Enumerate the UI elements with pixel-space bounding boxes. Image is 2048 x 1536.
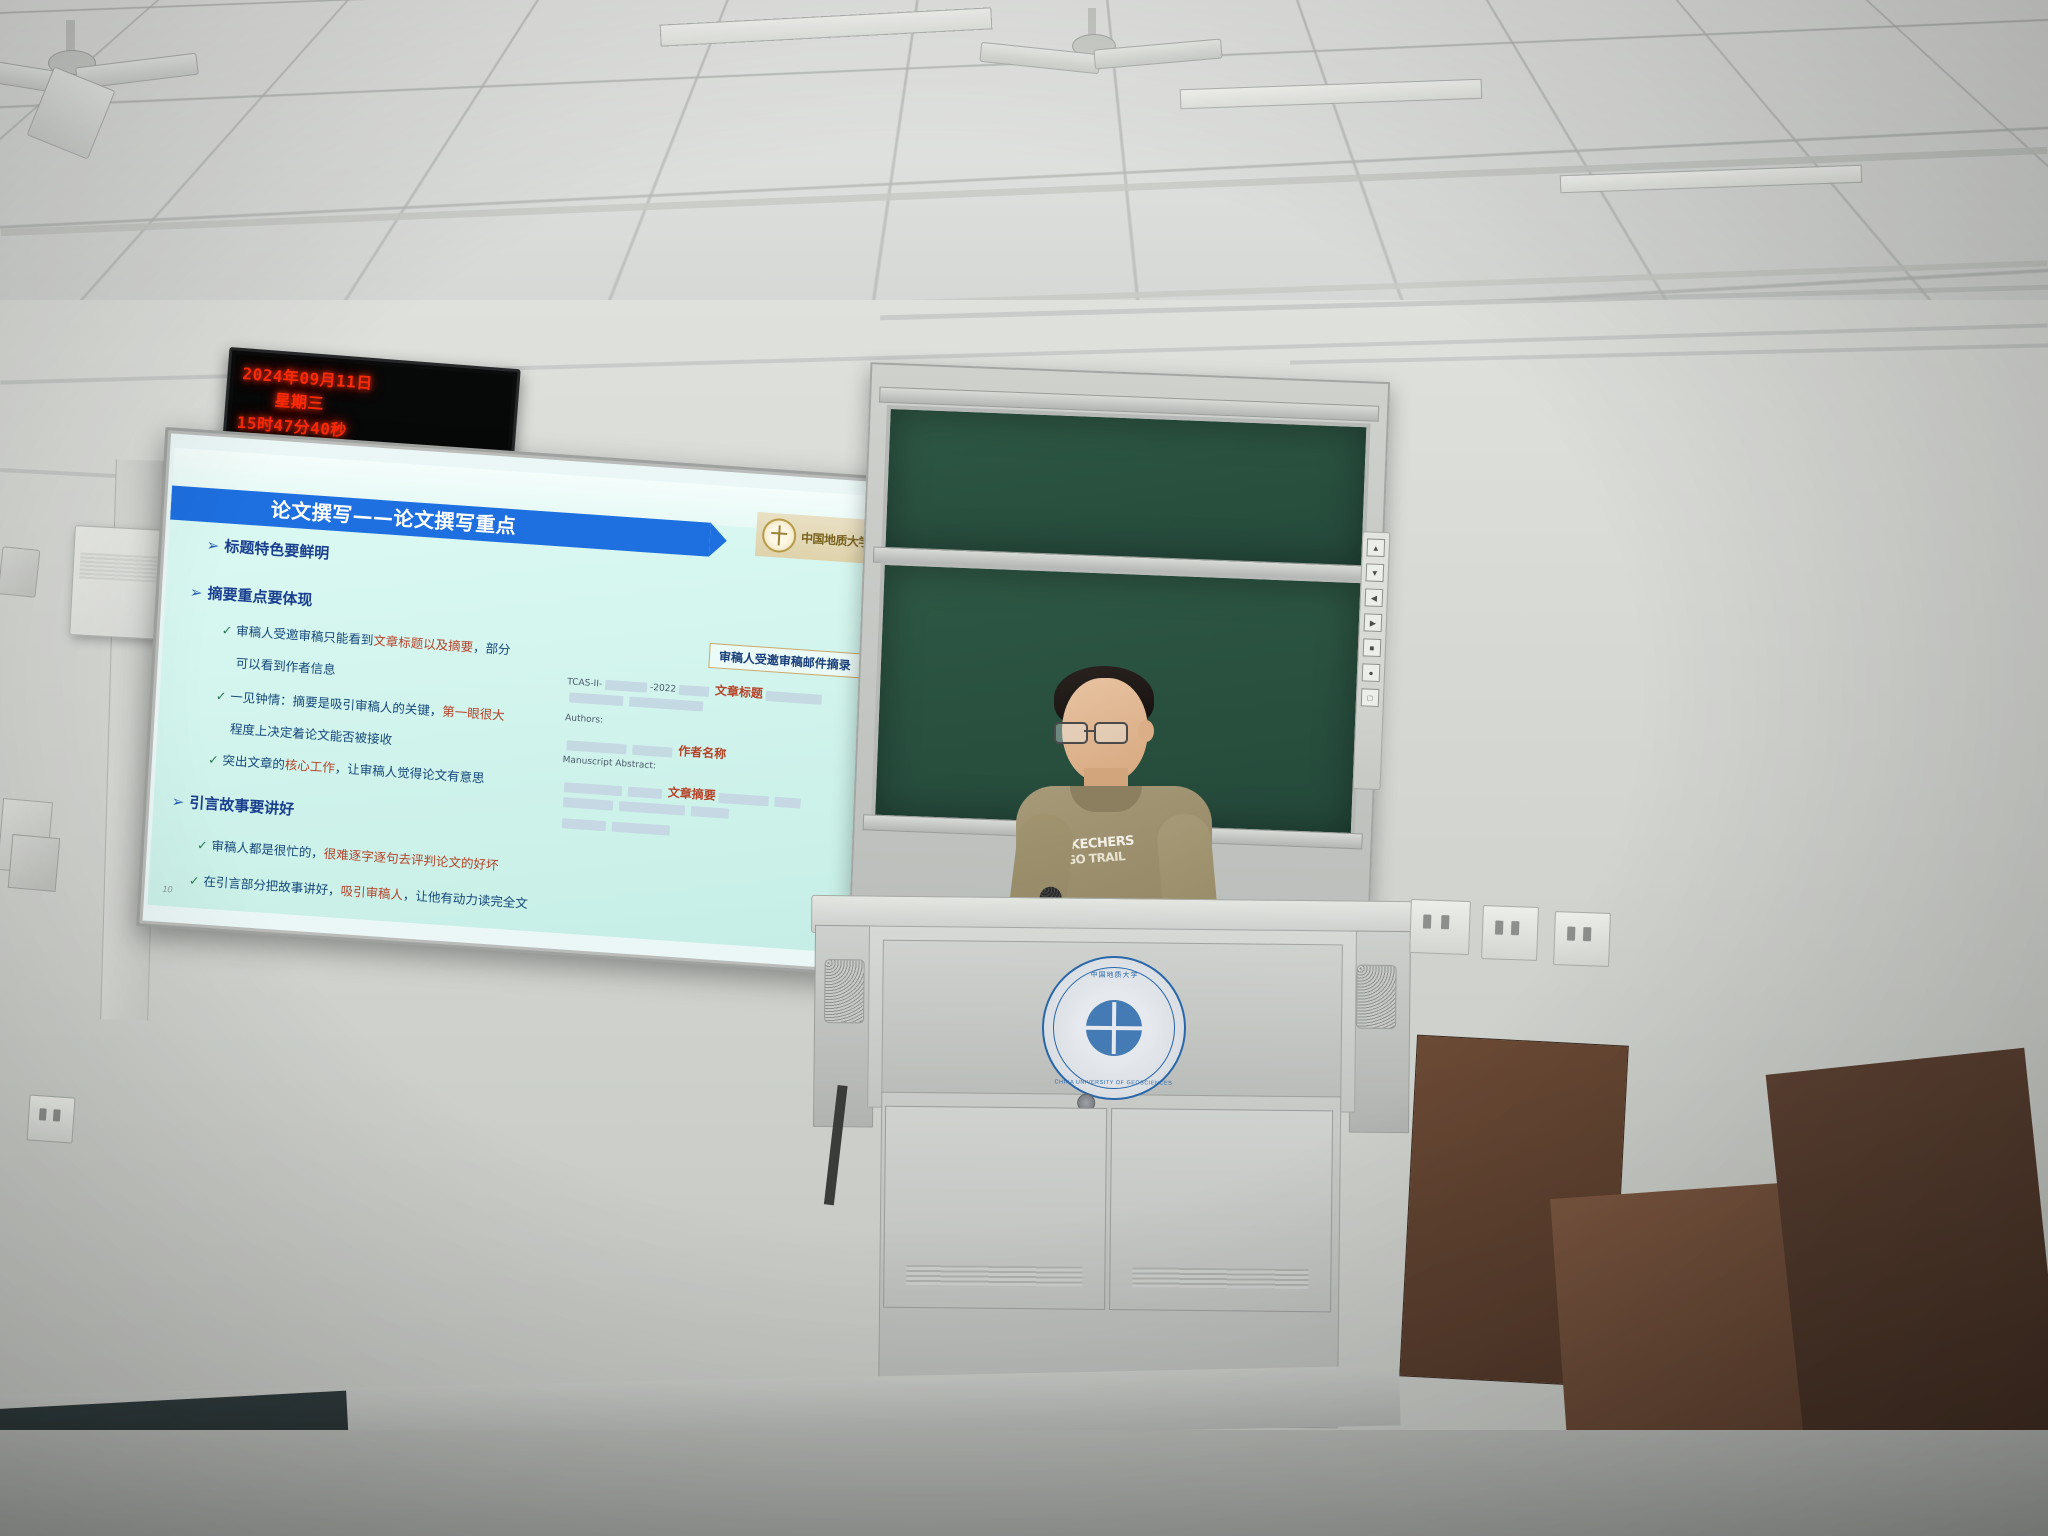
university-emblem: 中国地质大学 CHINA UNIVERSITY OF GEOSCIENCES: [1041, 955, 1187, 1101]
email-excerpt-body: TCAS-II--2022 文章标题 Authors: 作者名称 Manus: [558, 671, 867, 859]
authors-value: 作者名称: [678, 744, 727, 761]
wall-box-lower: [8, 834, 61, 892]
vent-grill: [906, 1265, 1082, 1287]
control-button-stop[interactable]: ■: [1363, 638, 1382, 657]
control-button-down[interactable]: ▼: [1366, 563, 1385, 582]
lectern-speaker-right: [1356, 965, 1397, 1029]
ceiling-fan: [980, 8, 1220, 118]
email-excerpt-tag: 审稿人受邀审稿邮件摘录: [708, 643, 861, 678]
university-name: 中国地质大学: [801, 528, 871, 550]
power-outlet[interactable]: [1481, 905, 1539, 961]
check-icon: ✓: [221, 622, 232, 638]
power-outlet[interactable]: [1409, 899, 1471, 955]
slide-heading-2: ➢ 摘要重点要体现: [189, 581, 313, 610]
control-button-left[interactable]: ◀: [1365, 588, 1384, 607]
blackboard-panel-upper: [881, 405, 1370, 571]
vent-grill: [1132, 1267, 1308, 1289]
slide-bullet: ✓ 一见钟情：摘要是吸引审稿人的关键，第一眼很大: [215, 685, 505, 724]
emblem-chinese-name: 中国地质大学: [1044, 969, 1184, 980]
chevron-right-icon: ➢: [171, 792, 185, 811]
university-seal-icon: [761, 517, 797, 553]
check-icon: ✓: [215, 688, 226, 704]
presenter-ear: [1138, 720, 1154, 742]
power-outlet[interactable]: [1553, 911, 1611, 967]
abstract-value: 文章摘要: [667, 785, 716, 802]
wall-speaker-small: [0, 546, 40, 598]
control-button-up[interactable]: ▲: [1366, 538, 1385, 557]
slide-bullet: ✓ 突出文章的核心工作，让审稿人觉得论文有意思: [208, 749, 485, 787]
article-title-label: 文章标题: [715, 683, 764, 700]
lectern-speaker-left: [824, 959, 865, 1023]
check-icon: ✓: [208, 752, 219, 768]
slide-heading-3: ➢ 引言故事要讲好: [171, 790, 295, 819]
lectern-door-left[interactable]: [883, 1106, 1107, 1310]
power-outlet[interactable]: [26, 1094, 75, 1143]
check-icon: ✓: [197, 837, 208, 853]
control-button-aux[interactable]: □: [1361, 688, 1380, 707]
slide-page-number: 10: [162, 884, 173, 895]
shirt-logo-line2: GO TRAIL: [1066, 849, 1126, 867]
slide-bullet: ✓ 在引言部分把故事讲好，吸引审稿人，让他有动力读完全文: [189, 870, 529, 912]
slide-bullet: ✓ 审稿人都是很忙的，很难逐字逐句去评判论文的好坏: [197, 834, 499, 874]
control-button-power[interactable]: ●: [1362, 663, 1381, 682]
led-clock-weekday: 星期三: [274, 387, 325, 415]
projection-screen: 论文撰写——论文撰写重点 中国地质大学 ➢ 标题特色要鲜明 ➢ 摘要重点要体现 …: [136, 427, 904, 977]
chevron-right-icon: ➢: [189, 583, 203, 602]
eyeglasses-icon: [1054, 722, 1138, 742]
lectern-right-side: [1349, 931, 1411, 1134]
slide-bullet: ✓ 审稿人受邀审稿只能看到文章标题以及摘要，部分: [221, 619, 511, 658]
lecture-hall-scene: 2024年09月11日 星期三 15时47分40秒 论文撰写——论文撰写重点 中…: [0, 0, 2048, 1536]
lectern-door-right[interactable]: [1109, 1108, 1333, 1312]
check-icon: ✓: [189, 873, 200, 889]
slide-body: ➢ 标题特色要鲜明 ➢ 摘要重点要体现 ✓ 审稿人受邀审稿只能看到文章标题以及摘…: [148, 523, 889, 954]
presentation-slide: 论文撰写——论文撰写重点 中国地质大学 ➢ 标题特色要鲜明 ➢ 摘要重点要体现 …: [148, 448, 893, 955]
floor: [0, 1430, 2048, 1536]
ceiling-fan: [0, 20, 190, 160]
slide-heading-1: ➢ 标题特色要鲜明: [206, 534, 330, 563]
slide-bullet-cont: 可以看到作者信息: [235, 652, 336, 678]
slide-bullet-cont: 程度上决定着论文能否被接收: [229, 718, 392, 748]
control-button-right[interactable]: ▶: [1364, 613, 1383, 632]
chevron-right-icon: ➢: [206, 536, 220, 555]
